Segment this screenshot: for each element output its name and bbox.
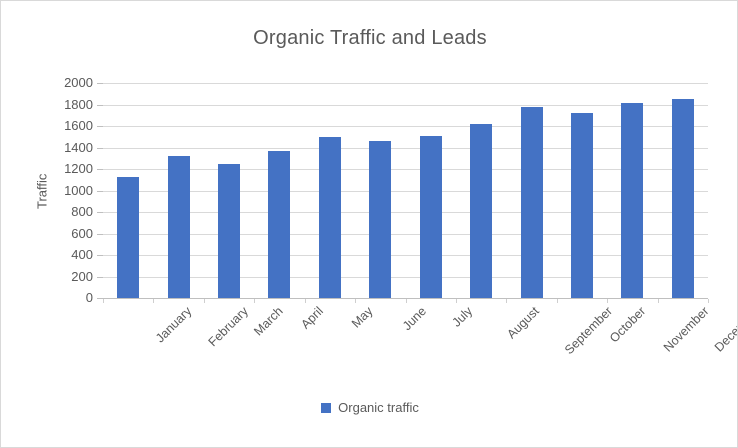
x-category-label: December — [712, 304, 738, 355]
y-tick-label: 1800 — [47, 98, 93, 111]
x-category-label: March — [251, 304, 285, 338]
bar — [420, 136, 442, 298]
x-label-text: July — [449, 304, 475, 330]
bar — [268, 151, 290, 298]
bar — [168, 156, 190, 298]
x-category-label: April — [299, 304, 327, 332]
y-tick-label: 1200 — [47, 162, 93, 175]
x-category-label: September — [561, 304, 614, 357]
gridline — [103, 169, 708, 170]
gridline — [103, 255, 708, 256]
y-tick-label: 1600 — [47, 119, 93, 132]
y-tick-mark — [97, 212, 103, 213]
legend-swatch-organic-traffic — [321, 403, 331, 413]
gridline — [103, 83, 708, 84]
x-label-text: November — [661, 304, 712, 355]
x-category-label: November — [661, 304, 712, 355]
x-tick-mark — [254, 299, 255, 303]
gridline — [103, 191, 708, 192]
y-tick-label: 1400 — [47, 141, 93, 154]
bar — [319, 137, 341, 298]
gridline — [103, 277, 708, 278]
x-label-text: April — [299, 304, 327, 332]
gridline — [103, 105, 708, 106]
x-label-text: October — [607, 304, 648, 345]
y-tick-label: 800 — [47, 205, 93, 218]
gridline — [103, 148, 708, 149]
x-tick-mark — [153, 299, 154, 303]
x-tick-mark — [557, 299, 558, 303]
bar — [621, 103, 643, 298]
x-label-text: December — [712, 304, 738, 355]
legend-label-organic-traffic: Organic traffic — [338, 400, 419, 415]
bar — [470, 124, 492, 298]
x-tick-mark — [506, 299, 507, 303]
x-category-label: August — [505, 304, 542, 341]
gridline — [103, 126, 708, 127]
y-tick-label: 200 — [47, 270, 93, 283]
y-tick-label: 2000 — [47, 76, 93, 89]
bar — [521, 107, 543, 298]
y-tick-mark — [97, 169, 103, 170]
y-axis-tick-labels: 2000180016001400120010008006004002000 — [45, 1, 93, 448]
y-tick-mark — [97, 191, 103, 192]
x-label-text: January — [153, 304, 194, 345]
x-label-text: March — [251, 304, 285, 338]
x-label-text: June — [400, 304, 429, 333]
x-tick-mark — [456, 299, 457, 303]
y-tick-mark — [97, 255, 103, 256]
x-label-text: August — [505, 304, 542, 341]
y-tick-mark — [97, 126, 103, 127]
y-tick-label: 600 — [47, 227, 93, 240]
x-label-text: May — [349, 304, 376, 331]
y-tick-mark — [97, 277, 103, 278]
bar — [571, 113, 593, 298]
x-category-label: June — [400, 304, 429, 333]
x-tick-mark — [607, 299, 608, 303]
x-tick-mark — [708, 299, 709, 303]
chart-legend: Organic traffic — [1, 400, 738, 415]
y-tick-mark — [97, 83, 103, 84]
x-category-label: May — [349, 304, 376, 331]
bar — [672, 99, 694, 298]
bar — [117, 177, 139, 298]
x-category-label: July — [449, 304, 475, 330]
x-tick-mark — [103, 299, 104, 303]
x-category-label: October — [607, 304, 648, 345]
gridline — [103, 212, 708, 213]
x-label-text: September — [561, 304, 614, 357]
chart-title: Organic Traffic and Leads — [1, 27, 738, 50]
chart-container: Organic Traffic and Leads Traffic 200018… — [0, 0, 738, 448]
y-tick-mark — [97, 298, 103, 299]
gridline — [103, 234, 708, 235]
y-tick-mark — [97, 148, 103, 149]
x-tick-mark — [658, 299, 659, 303]
y-tick-label: 1000 — [47, 184, 93, 197]
x-tick-mark — [305, 299, 306, 303]
bar — [369, 141, 391, 298]
x-category-label: January — [153, 304, 194, 345]
y-tick-label: 0 — [47, 291, 93, 304]
y-tick-label: 400 — [47, 248, 93, 261]
y-tick-mark — [97, 234, 103, 235]
x-tick-mark — [355, 299, 356, 303]
y-tick-mark — [97, 105, 103, 106]
x-tick-mark — [204, 299, 205, 303]
plot-area — [103, 83, 708, 298]
bar — [218, 164, 240, 298]
x-label-text: February — [205, 304, 250, 349]
x-category-label: February — [205, 304, 250, 349]
x-tick-mark — [406, 299, 407, 303]
